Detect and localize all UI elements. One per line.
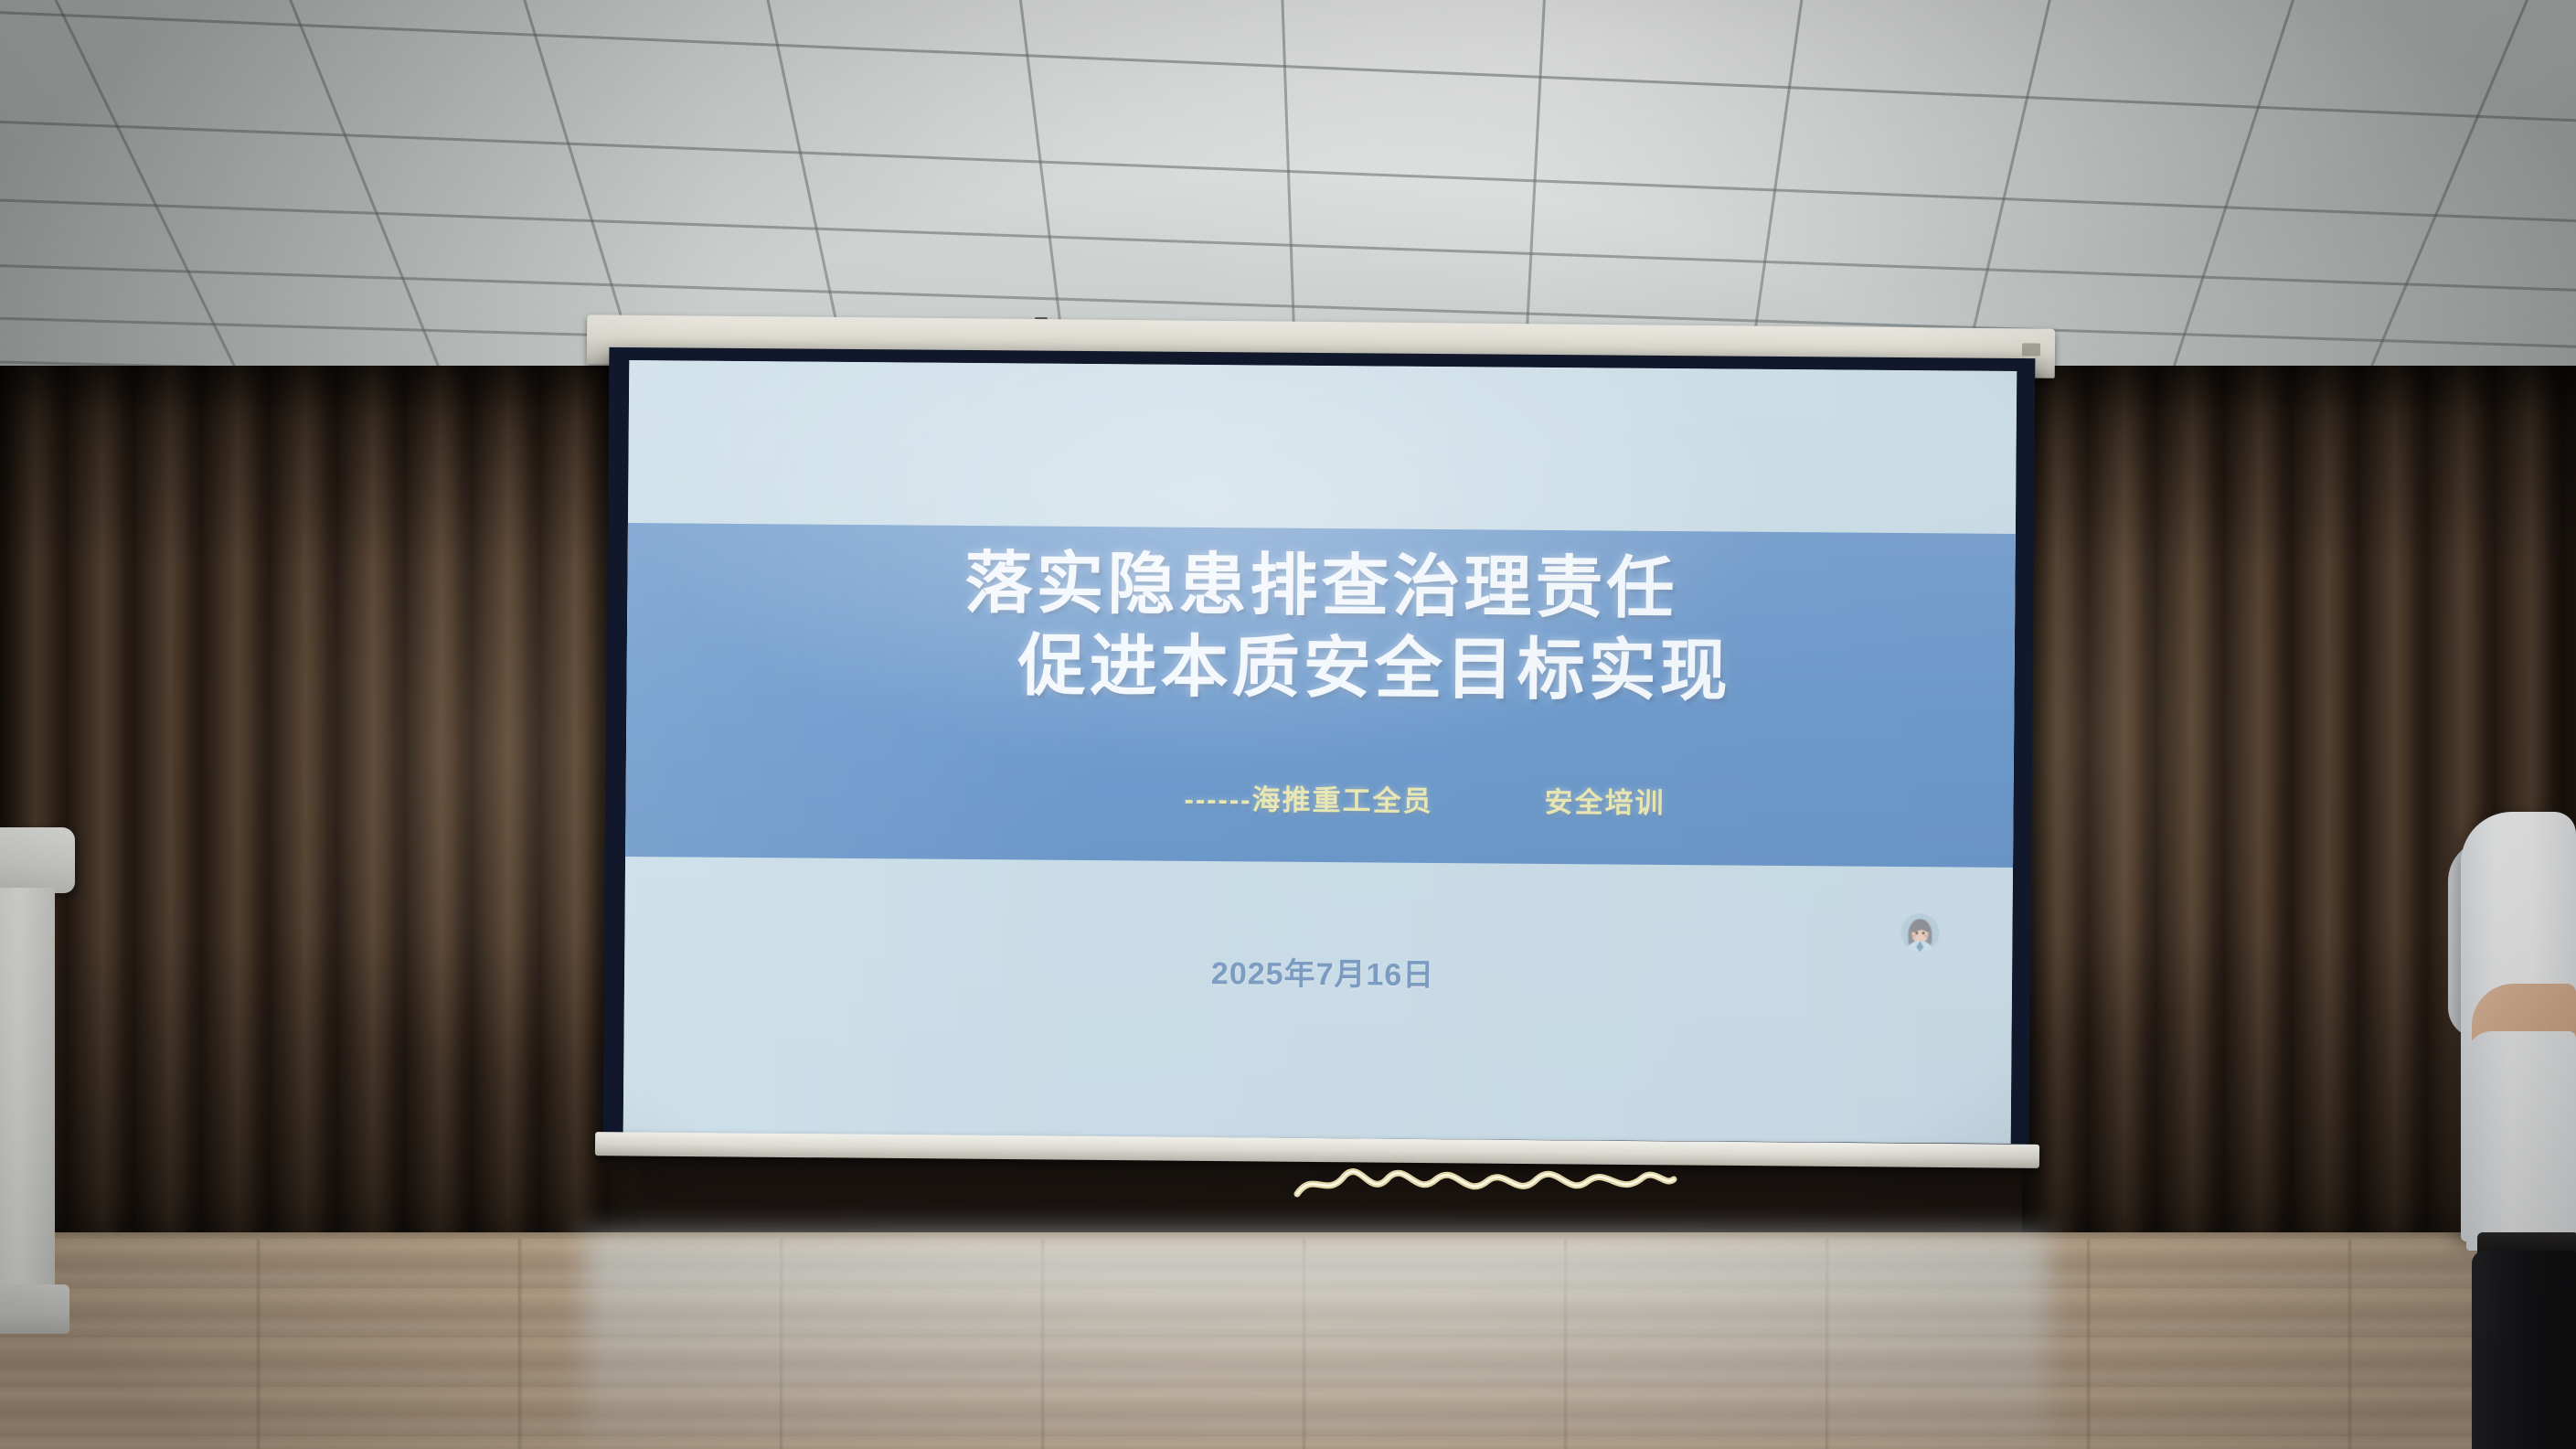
slide-subtitle-right: 安全培训 [1544, 779, 1665, 821]
presenter-avatar-icon [1900, 913, 1939, 952]
curtain-left-glow [0, 366, 640, 1280]
projector-light-spill [585, 1234, 2048, 1449]
slide-title-line-1: 落实隐患排查治理责任 [627, 539, 2016, 633]
curtain-right-glow [2022, 366, 2433, 1280]
conference-room-scene: 落实隐患排查治理责任 促进本质安全目标实现 ------海推重工全员 安全培训 … [0, 0, 2576, 1449]
lectern-column [0, 888, 55, 1290]
roller-endcap [2022, 343, 2040, 356]
slide-subtitle-left: ------海推重工全员 [1184, 776, 1432, 819]
lectern-top [0, 827, 75, 893]
person-trousers [2472, 1251, 2576, 1449]
standing-person [2388, 812, 2576, 1449]
slide-date-text: 2025年7月16日 [1211, 956, 1435, 993]
golden-ribbon-reflection [1293, 1163, 1677, 1205]
person-shirt-hem [2466, 1031, 2576, 1251]
slide-title-line-2: 促进本质安全目标实现 [626, 622, 2015, 715]
projection-screen-surface: 落实隐患排查治理责任 促进本质安全目标实现 ------海推重工全员 安全培训 … [623, 360, 2017, 1144]
lectern-base [0, 1284, 69, 1334]
slide-title-block: 落实隐患排查治理责任 促进本质安全目标实现 [626, 539, 2015, 715]
projection-screen[interactable]: 落实隐患排查治理责任 促进本质安全目标实现 ------海推重工全员 安全培训 … [603, 347, 2036, 1154]
presentation-slide: 落实隐患排查治理责任 促进本质安全目标实现 ------海推重工全员 安全培训 … [623, 360, 2017, 1144]
lectern [0, 827, 75, 1339]
slide-date: 2025年7月16日 [624, 943, 2012, 999]
